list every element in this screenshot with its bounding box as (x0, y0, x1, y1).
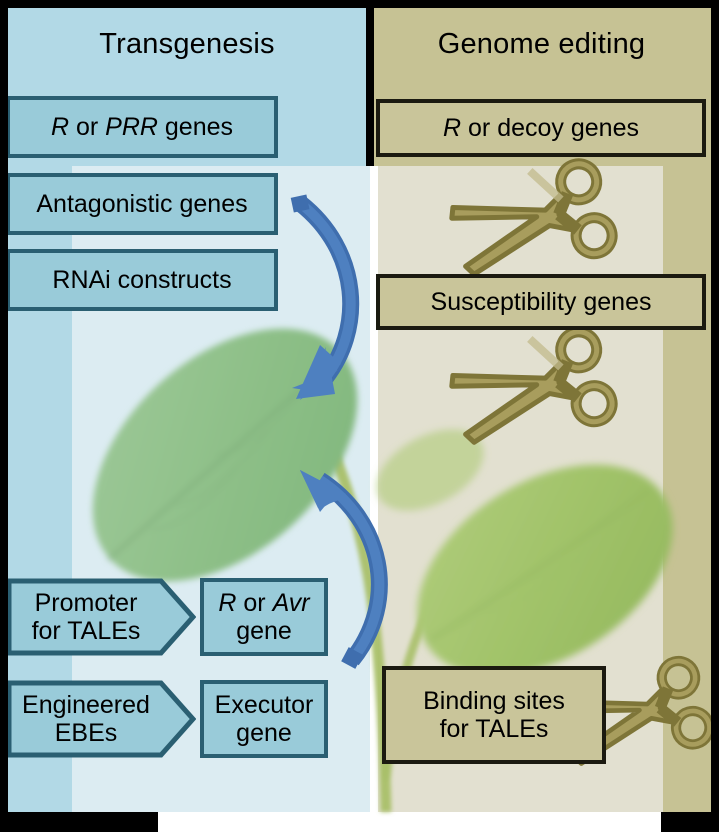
box-label: R or decoy genes (443, 114, 639, 142)
panel-divider (366, 0, 374, 166)
box-executor-gene[interactable]: Executor gene (200, 680, 328, 758)
box-r-or-decoy-genes[interactable]: R or decoy genes (376, 99, 706, 157)
frame-corner-bottom-right (661, 812, 719, 832)
figure-root: Transgenesis Genome editing R or PRR gen… (0, 0, 719, 832)
box-label-line2: gene (236, 719, 292, 747)
scissors-icon (448, 152, 618, 292)
box-label-line2: EBEs (55, 719, 118, 747)
box-label-line1: Engineered (22, 691, 150, 719)
box-label-line1: Binding sites (423, 687, 565, 715)
box-label-line2: for TALEs (32, 617, 141, 645)
box-label-lines: Promoter for TALEs (6, 589, 196, 645)
frame-edge-top (0, 0, 719, 8)
box-promoter-for-tales[interactable]: Promoter for TALEs (6, 578, 196, 656)
box-label: Antagonistic genes (36, 190, 247, 218)
box-label-lines: Executor gene (215, 691, 314, 747)
box-label-lines: Engineered EBEs (6, 691, 196, 747)
box-label: R or Avrgene (218, 589, 309, 645)
box-label-lines: Binding sites for TALEs (423, 687, 565, 743)
box-r-or-prr-genes[interactable]: R or PRR genes (6, 96, 278, 158)
frame-corner-bottom-left (0, 812, 158, 832)
panel-title-genome-editing: Genome editing (374, 28, 709, 61)
scissors-icon (448, 320, 618, 460)
box-binding-sites-for-tales[interactable]: Binding sites for TALEs (382, 666, 606, 764)
box-r-or-avr-gene[interactable]: R or Avrgene (200, 578, 328, 656)
arrow-upper-icon (291, 194, 351, 400)
box-label: R or PRR genes (51, 113, 233, 141)
box-rnai-constructs[interactable]: RNAi constructs (6, 249, 278, 311)
panel-title-transgenesis: Transgenesis (8, 28, 366, 61)
frame-edge-right (711, 0, 719, 812)
box-engineered-ebes[interactable]: Engineered EBEs (6, 680, 196, 758)
box-label: Susceptibility genes (431, 288, 652, 316)
box-label-line2: for TALEs (440, 715, 549, 743)
box-label-line1: Promoter (35, 589, 138, 617)
box-antagonistic-genes[interactable]: Antagonistic genes (6, 173, 278, 235)
box-label-line1: Executor (215, 691, 314, 719)
box-susceptibility-genes[interactable]: Susceptibility genes (376, 274, 706, 330)
box-label: RNAi constructs (52, 266, 231, 294)
